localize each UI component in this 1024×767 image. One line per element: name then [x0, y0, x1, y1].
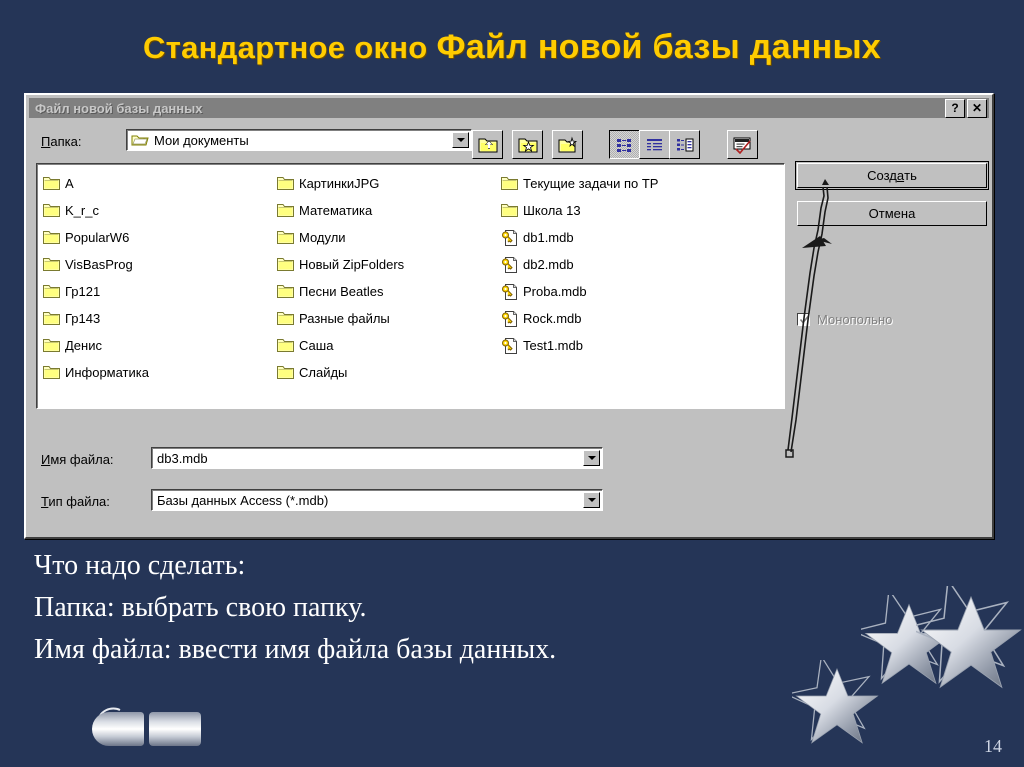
file-list-columns: AK_r_cPopularW6VisBasProgГр121Гр143Денис… — [43, 170, 767, 386]
up-one-level-button[interactable] — [472, 130, 503, 159]
titlebar-buttons: ? ✕ — [945, 99, 989, 118]
list-item[interactable]: Гр143 — [43, 305, 271, 332]
body-line-1: Что надо сделать: — [34, 550, 245, 582]
filetype-value: Базы данных Access (*.mdb) — [152, 493, 328, 508]
body-line-2: Папка: выбрать свою папку. — [34, 592, 366, 624]
folder-icon — [277, 230, 295, 245]
access-database-icon — [501, 338, 519, 353]
list-item-label: K_r_c — [61, 203, 99, 218]
body-line-3: Имя файла: ввести имя файла базы данных. — [34, 634, 556, 666]
lookin-label: Папка: — [41, 134, 81, 149]
list-item[interactable]: db2.mdb — [501, 251, 761, 278]
list-item-label: VisBasProg — [61, 257, 133, 272]
folder-icon — [43, 176, 61, 191]
star-decoration-large — [916, 586, 1024, 696]
file-dialog-window: Файл новой базы данных ? ✕ Папка: Мои до… — [24, 93, 994, 539]
folder-icon — [501, 176, 519, 191]
folder-open-icon — [131, 133, 149, 148]
list-item-label: Rock.mdb — [519, 311, 582, 326]
access-database-icon — [501, 257, 519, 272]
nav-forward-button[interactable] — [149, 712, 201, 746]
list-item-label: Гр143 — [61, 311, 100, 326]
file-list-column-1: AK_r_cPopularW6VisBasProgГр121Гр143Денис… — [43, 170, 271, 386]
list-view-button[interactable] — [609, 130, 640, 159]
list-item[interactable]: Слайды — [277, 359, 495, 386]
slide-nav-buttons — [92, 712, 201, 746]
folder-icon — [501, 203, 519, 218]
list-item[interactable]: db1.mdb — [501, 224, 761, 251]
list-item-label: Разные файлы — [295, 311, 390, 326]
access-database-icon — [501, 230, 519, 245]
list-item[interactable]: Саша — [277, 332, 495, 359]
list-item[interactable]: VisBasProg — [43, 251, 271, 278]
list-item[interactable]: Модули — [277, 224, 495, 251]
list-item[interactable]: PopularW6 — [43, 224, 271, 251]
list-item-label: Proba.mdb — [519, 284, 587, 299]
details-view-button[interactable] — [639, 130, 670, 159]
dialog-title-text: Файл новой базы данных — [29, 101, 202, 116]
list-item[interactable]: Текущие задачи по ТР — [501, 170, 761, 197]
exclusive-checkbox-row[interactable]: Монопольно — [797, 312, 892, 327]
lookin-combobox[interactable]: Мои документы — [126, 129, 472, 151]
access-database-icon — [501, 311, 519, 326]
list-item-label: Денис — [61, 338, 102, 353]
view-button-group — [610, 130, 700, 159]
folder-icon — [43, 257, 61, 272]
list-item[interactable]: Test1.mdb — [501, 332, 761, 359]
dialog-titlebar[interactable]: Файл новой базы данных ? ✕ — [29, 98, 989, 118]
list-item-label: Школа 13 — [519, 203, 581, 218]
list-item[interactable]: Школа 13 — [501, 197, 761, 224]
list-item[interactable]: K_r_c — [43, 197, 271, 224]
folder-icon — [43, 311, 61, 326]
filename-label: Имя файла: — [41, 452, 114, 467]
list-item[interactable]: Разные файлы — [277, 305, 495, 332]
filename-input[interactable]: db3.mdb — [152, 451, 208, 466]
filetype-label: Тип файла: — [41, 494, 110, 509]
list-item[interactable]: Гр121 — [43, 278, 271, 305]
filename-row: Имя файла: db3.mdb — [36, 447, 636, 473]
close-icon[interactable]: ✕ — [967, 99, 987, 118]
folder-icon — [43, 230, 61, 245]
list-item-label: db2.mdb — [519, 257, 574, 272]
help-button[interactable]: ? — [945, 99, 965, 118]
list-item-label: Саша — [295, 338, 333, 353]
properties-button[interactable] — [669, 130, 700, 159]
folder-icon — [43, 338, 61, 353]
filename-combobox[interactable]: db3.mdb — [151, 447, 603, 469]
list-item-label: A — [61, 176, 74, 191]
list-item[interactable]: Информатика — [43, 359, 271, 386]
list-item-label: КартинкиJPG — [295, 176, 379, 191]
folder-icon — [277, 311, 295, 326]
exclusive-checkbox[interactable] — [797, 313, 810, 326]
filetype-combobox[interactable]: Базы данных Access (*.mdb) — [151, 489, 603, 511]
folder-icon — [277, 365, 295, 380]
cancel-button[interactable]: Отмена — [797, 201, 987, 226]
nav-back-button[interactable] — [92, 712, 144, 746]
file-list-column-2: КартинкиJPGМатематикаМодулиНовый ZipFold… — [277, 170, 495, 386]
chevron-down-icon[interactable] — [452, 132, 469, 148]
exclusive-checkbox-label: Монопольно — [817, 312, 892, 327]
filetype-row: Тип файла: Базы данных Access (*.mdb) — [36, 489, 636, 515]
list-item[interactable]: КартинкиJPG — [277, 170, 495, 197]
folder-icon — [43, 284, 61, 299]
dialog-toolbar — [472, 130, 758, 159]
chevron-down-icon[interactable] — [583, 492, 600, 508]
folder-icon — [277, 203, 295, 218]
page-number: 14 — [984, 736, 1002, 757]
list-item[interactable]: Proba.mdb — [501, 278, 761, 305]
page-title-plain: Стандартное окно — [143, 30, 437, 65]
page-title-bold: Файл новой базы данных — [436, 28, 881, 66]
list-item[interactable]: Математика — [277, 197, 495, 224]
list-item-label: Слайды — [295, 365, 347, 380]
list-item[interactable]: Новый ZipFolders — [277, 251, 495, 278]
folder-icon — [277, 338, 295, 353]
access-database-icon — [501, 284, 519, 299]
list-item-label: PopularW6 — [61, 230, 129, 245]
folder-icon — [277, 284, 295, 299]
list-item-label: Новый ZipFolders — [295, 257, 404, 272]
commands-tools-button[interactable] — [727, 130, 758, 159]
list-item-label: Математика — [295, 203, 372, 218]
list-item-label: Песни Beatles — [295, 284, 384, 299]
list-item-label: Информатика — [61, 365, 149, 380]
folder-icon — [277, 176, 295, 191]
file-list-view[interactable]: AK_r_cPopularW6VisBasProgГр121Гр143Денис… — [36, 163, 785, 409]
file-list-column-3: Текущие задачи по ТРШкола 13db1.mdbdb2.m… — [501, 170, 761, 386]
list-item-label: db1.mdb — [519, 230, 574, 245]
create-button[interactable]: Создать — [797, 163, 987, 188]
list-item[interactable]: Денис — [43, 332, 271, 359]
list-item-label: Test1.mdb — [519, 338, 583, 353]
list-item[interactable]: Rock.mdb — [501, 305, 761, 332]
page-title: Стандартное окно Файл новой базы данных — [0, 28, 1024, 67]
folder-icon — [43, 365, 61, 380]
new-folder-button[interactable] — [552, 130, 583, 159]
favorites-button[interactable] — [512, 130, 543, 159]
list-item[interactable]: A — [43, 170, 271, 197]
list-item-label: Текущие задачи по ТР — [519, 176, 658, 191]
lookin-value: Мои документы — [149, 133, 249, 148]
folder-icon — [277, 257, 295, 272]
list-item-label: Гр121 — [61, 284, 100, 299]
chevron-down-icon[interactable] — [583, 450, 600, 466]
folder-icon — [43, 203, 61, 218]
list-item[interactable]: Песни Beatles — [277, 278, 495, 305]
list-item-label: Модули — [295, 230, 346, 245]
